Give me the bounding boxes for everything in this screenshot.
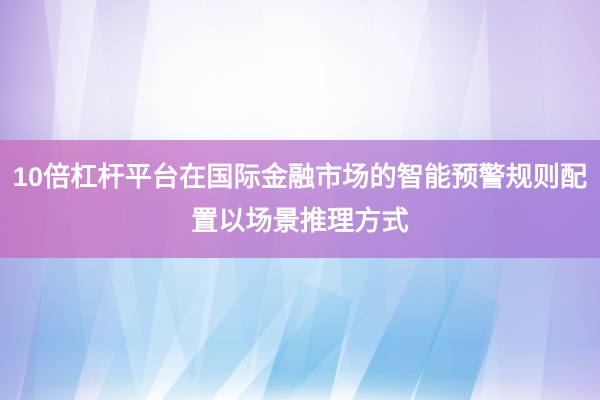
title-band: 10倍杠杆平台在国际金融市场的智能预警规则配 置以场景推理方式 — [0, 140, 600, 258]
watermark-text: · · — [0, 386, 600, 396]
banner-image: 10倍杠杆平台在国际金融市场的智能预警规则配 置以场景推理方式 · · — [0, 0, 600, 400]
page-title-line-2: 置以场景推理方式 — [191, 199, 409, 243]
page-title-line-1: 10倍杠杆平台在国际金融市场的智能预警规则配 — [13, 155, 587, 199]
